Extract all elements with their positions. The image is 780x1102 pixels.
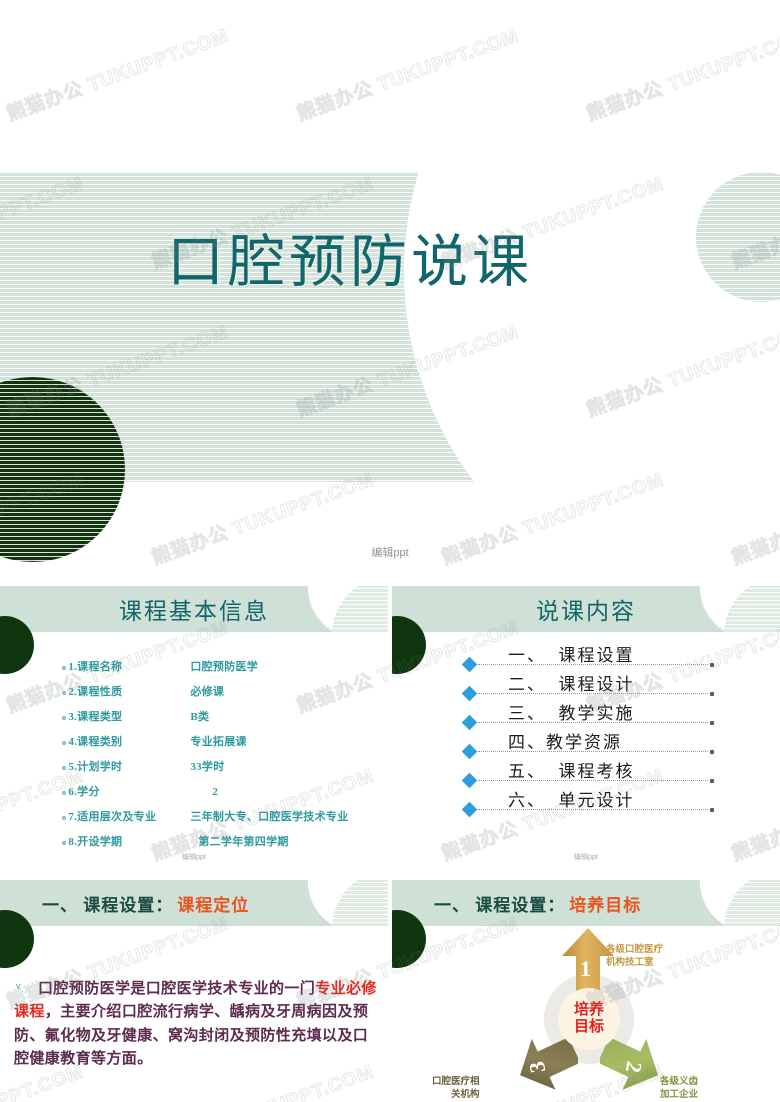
agenda-label: 一、 课程设置 — [508, 641, 635, 666]
end-dot-icon — [710, 692, 714, 696]
center-line-1: 培养 — [574, 1002, 604, 1019]
diagram-center-label: 培养 目标 — [558, 988, 620, 1050]
diamond-bullet-icon — [462, 686, 478, 702]
info-key: 7.适用层次及专业 — [68, 808, 190, 824]
agenda-label: 二、 课程设计 — [508, 670, 635, 695]
training-goal-slide: 一、 课程设置： 培养目标 — [392, 880, 780, 1102]
slide3-footer: 编辑ppt — [392, 852, 780, 862]
agenda-label: 三、 教学实施 — [508, 699, 635, 724]
list-item[interactable]: 五、 课程考核 — [464, 758, 714, 787]
agenda-label: 四、教学资源 — [508, 728, 622, 753]
list-item[interactable]: 三、 教学实施 — [464, 700, 714, 729]
list-bullet-icon: o — [62, 813, 66, 822]
info-value: 三年制大专、口腔医学技术专业 — [190, 808, 348, 824]
list-item[interactable]: 一、 课程设置 — [464, 642, 714, 671]
info-value: B类 — [190, 708, 209, 724]
end-dot-icon — [710, 808, 714, 812]
slide5-title-accent: 培养目标 — [569, 891, 641, 916]
table-row: o 4.课程类别 专业拓展课 — [62, 733, 382, 749]
list-bullet-icon: o — [62, 763, 66, 772]
list-item[interactable]: 二、 课程设计 — [464, 671, 714, 700]
slide4-title: 一、 课程设置： 课程定位 — [42, 880, 249, 926]
table-row: o 6.学分 2 — [62, 783, 382, 799]
course-position-paragraph: 口腔预防医学是口腔医学技术专业的一门专业必修课程，主要介绍口腔流行病学、龋病及牙… — [14, 978, 378, 1071]
table-row: o 3.课程类型 B类 — [62, 708, 382, 724]
label2-line1: 各级义齿 — [660, 1076, 698, 1089]
slide4-title-prefix: 一、 课程设置： — [42, 891, 173, 916]
info-key: 3.课程类型 — [68, 708, 190, 724]
info-key: 1.课程名称 — [68, 658, 190, 674]
paragraph-part1: 口腔预防医学是口腔医学技术专业的一门 — [38, 981, 315, 997]
diamond-bullet-icon — [462, 773, 478, 789]
arrow-number-1: 1 — [580, 956, 591, 982]
info-key: 8.开设学期 — [68, 833, 190, 849]
dotted-connector — [478, 780, 708, 781]
list-bullet-icon: o — [62, 788, 66, 797]
table-row: o 7.适用层次及专业 三年制大专、口腔医学技术专业 — [62, 808, 382, 824]
dotted-connector — [478, 693, 708, 694]
diamond-bullet-icon — [462, 802, 478, 818]
info-key: 6.学分 — [68, 783, 190, 799]
diagram-label-3: 口腔医疗相 关机构 — [432, 1076, 480, 1102]
info-value: 第二学年第四学期 — [190, 833, 288, 849]
list-bullet-icon: o — [62, 838, 66, 847]
slide2-title: 课程基本信息 — [0, 586, 388, 632]
info-value: 33学时 — [190, 758, 224, 774]
table-row: o 2.课程性质 必修课 — [62, 683, 382, 699]
course-position-slide: 一、 课程设置： 课程定位 v 口腔预防医学是口腔医学技术专业的一门专业必修课程… — [0, 880, 388, 1102]
end-dot-icon — [710, 663, 714, 667]
diagram-label-2: 各级义齿 加工企业 — [660, 1076, 698, 1102]
dotted-connector — [478, 664, 708, 665]
diagram-label-1: 各级口腔医疗 机构技工室 — [606, 944, 663, 970]
info-key: 4.课程类别 — [68, 733, 190, 749]
page-title: 口腔预防说课 — [0, 232, 700, 295]
label3-line1: 口腔医疗相 — [432, 1076, 480, 1089]
agenda-slide: 说课内容 一、 课程设置 二、 课程设计 三、 教学实施 四、教学资源 — [392, 586, 780, 868]
label2-line2: 加工企业 — [660, 1089, 698, 1102]
info-value: 专业拓展课 — [190, 733, 247, 749]
label1-line2: 机构技工室 — [606, 957, 663, 970]
course-info-slide: 课程基本信息 o 1.课程名称 口腔预防医学 o 2.课程性质 必修课 o 3.… — [0, 586, 388, 868]
label3-line2: 关机构 — [432, 1089, 480, 1102]
table-row: o 8.开设学期 第二学年第四学期 — [62, 833, 382, 849]
end-dot-icon — [710, 779, 714, 783]
course-info-list: o 1.课程名称 口腔预防医学 o 2.课程性质 必修课 o 3.课程类型 B类… — [62, 658, 382, 858]
title-slide: 口腔预防说课 编辑ppt — [0, 172, 780, 562]
list-bullet-icon: o — [62, 688, 66, 697]
training-goal-diagram: 1 2 3 培养 目标 各级口腔医疗 机构技工室 各级义齿 加工企业 口腔医疗相… — [392, 926, 780, 1102]
dotted-connector — [478, 751, 708, 752]
agenda-label: 六、 单元设计 — [508, 786, 635, 811]
info-value: 口腔预防医学 — [190, 658, 258, 674]
agenda-label: 五、 课程考核 — [508, 757, 635, 782]
diamond-bullet-icon — [462, 657, 478, 673]
diamond-bullet-icon — [462, 744, 478, 760]
paragraph-part2: ，主要介绍口腔流行病学、龋病及牙周病因及预防、氟化物及牙健康、窝沟封闭及预防性充… — [14, 1004, 368, 1067]
center-line-2: 目标 — [574, 1019, 604, 1036]
info-key: 5.计划学时 — [68, 758, 190, 774]
list-item[interactable]: 四、教学资源 — [464, 729, 714, 758]
table-row: o 1.课程名称 口腔预防医学 — [62, 658, 382, 674]
dotted-connector — [478, 809, 708, 810]
slide1-footer: 编辑ppt — [0, 544, 780, 560]
table-row: o 5.计划学时 33学时 — [62, 758, 382, 774]
watermark-text: 熊猫办公 TUKUPPT.COM — [2, 21, 232, 127]
dotted-connector — [478, 722, 708, 723]
label1-line1: 各级口腔医疗 — [606, 944, 663, 957]
end-dot-icon — [710, 721, 714, 725]
list-item[interactable]: 六、 单元设计 — [464, 787, 714, 816]
watermark-text: 熊猫办公 TUKUPPT.COM — [582, 21, 780, 127]
info-value: 2 — [190, 786, 218, 798]
slide3-title: 说课内容 — [392, 586, 780, 632]
list-bullet-icon: o — [62, 738, 66, 747]
list-bullet-icon: o — [62, 663, 66, 672]
info-key: 2.课程性质 — [68, 683, 190, 699]
end-dot-icon — [710, 750, 714, 754]
slide4-title-accent: 课程定位 — [177, 891, 249, 916]
slide5-title: 一、 课程设置： 培养目标 — [434, 880, 641, 926]
watermark-text: 熊猫办公 TUKUPPT.COM — [292, 21, 522, 127]
diamond-bullet-icon — [462, 715, 478, 731]
list-bullet-icon: o — [62, 713, 66, 722]
slide2-footer: 编辑ppt — [0, 852, 388, 862]
info-value: 必修课 — [190, 683, 224, 699]
agenda-list: 一、 课程设置 二、 课程设计 三、 教学实施 四、教学资源 五、 课程考核 — [464, 642, 714, 816]
slide5-title-prefix: 一、 课程设置： — [434, 891, 565, 916]
